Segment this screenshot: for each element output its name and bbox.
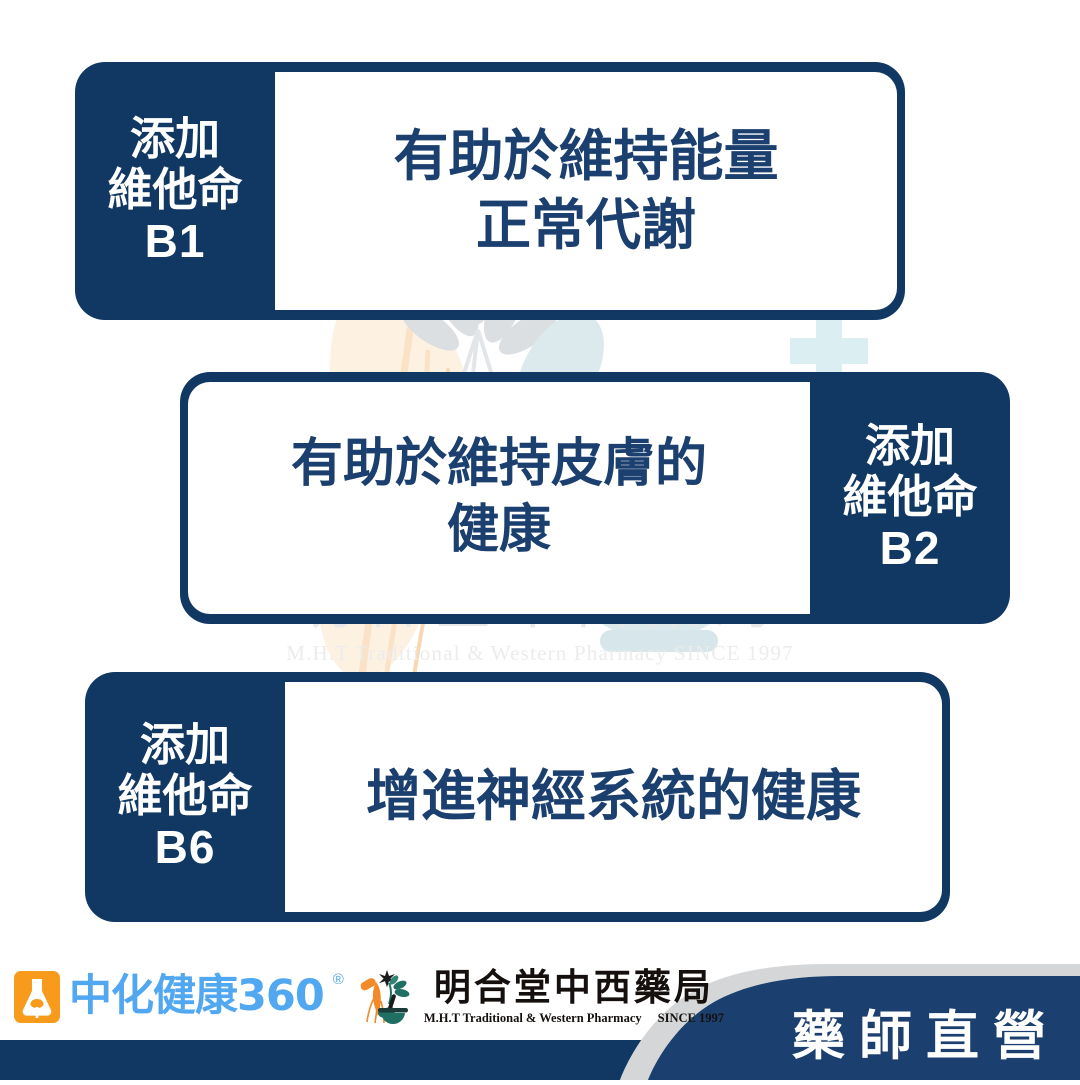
benefit-line1: 增進神經系統的健康 <box>366 762 861 831</box>
vitamin-badge-b6: 添加 維他命 B6 <box>85 672 285 922</box>
flask-plant-icon <box>14 971 60 1023</box>
mht-since: SINCE 1997 <box>658 1011 724 1025</box>
badge-line1: 添加 <box>140 720 230 771</box>
badge-code: B6 <box>155 822 216 874</box>
zhonghua-health-360-logo: 中化健康360 ® <box>14 971 344 1023</box>
mht-tagline: M.H.T Traditional & Western Pharmacy <box>424 1011 642 1025</box>
benefit-line1: 有助於維持能量 <box>393 122 778 191</box>
herbs-mortar-icon <box>356 968 418 1026</box>
badge-code: B2 <box>880 523 941 575</box>
benefit-card-b1: 添加 維他命 B1 有助於維持能量 正常代謝 <box>75 62 905 320</box>
registered-trademark-icon: ® <box>333 971 344 988</box>
footer-bar: 藥師直營 中化健康360 ® <box>0 944 1080 1080</box>
benefit-panel-b6: 增進神經系統的健康 <box>285 682 942 912</box>
vitamin-badge-b1: 添加 維他命 B1 <box>75 62 275 320</box>
mht-pharmacy-logo: 明合堂中西藥局 M.H.T Traditional & Western Phar… <box>356 968 724 1026</box>
badge-line1: 添加 <box>130 114 220 165</box>
watermark-en: M.H.T Traditional & Western Pharmacy SIN… <box>0 641 1080 666</box>
benefit-line2: 正常代謝 <box>393 191 778 260</box>
badge-line2: 維他命 <box>842 472 977 523</box>
banner-label: 藥師直營 <box>792 1000 1060 1074</box>
mht-text-block: 明合堂中西藥局 M.H.T Traditional & Western Phar… <box>424 969 724 1026</box>
benefit-card-b2: 有助於維持皮膚的 健康 添加 維他命 B2 <box>180 372 1010 624</box>
badge-line2: 維他命 <box>107 165 242 216</box>
mht-name-cn: 明合堂中西藥局 <box>434 969 714 1009</box>
footer-logos: 中化健康360 ® <box>14 962 724 1032</box>
benefit-card-b6: 添加 維他命 B6 增進神經系統的健康 <box>85 672 950 922</box>
badge-code: B1 <box>145 216 206 268</box>
badge-line2: 維他命 <box>117 771 252 822</box>
badge-line1: 添加 <box>865 421 955 472</box>
vitamin-badge-b2: 添加 維他命 B2 <box>810 372 1010 624</box>
zhonghua-wordmark: 中化健康360 <box>69 971 324 1021</box>
mht-name-en: M.H.T Traditional & Western PharmacySINC… <box>424 1010 724 1026</box>
benefit-line1: 有助於維持皮膚的 <box>291 432 707 498</box>
benefit-line2: 健康 <box>291 498 707 564</box>
benefit-panel-b1: 有助於維持能量 正常代謝 <box>275 72 897 310</box>
benefit-panel-b2: 有助於維持皮膚的 健康 <box>188 382 810 614</box>
